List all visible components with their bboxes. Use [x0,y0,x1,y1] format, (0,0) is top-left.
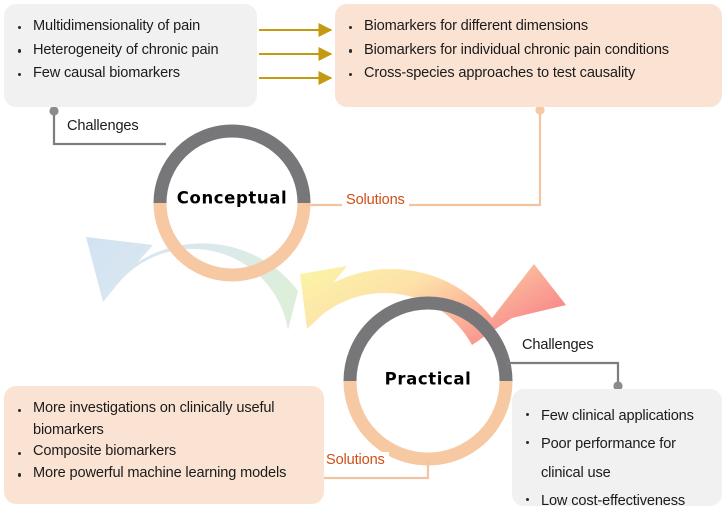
list-item: Few clinical applications [520,402,714,430]
list-challenges-conceptual: Multidimensionality of pain Heterogeneit… [12,15,247,86]
connector-solutions-conceptual [305,105,545,205]
connector-label-challenges-conceptual: Challenges [63,118,143,134]
box-solutions-practical: More investigations on clinically useful… [4,386,324,504]
list-item: Biomarkers for individual chronic pain c… [343,39,712,63]
list-item: Biomarkers for different dimensions [343,15,712,39]
connector-label-solutions-practical: Solutions [322,452,389,468]
list-challenges-practical: Few clinical applications Poor performan… [520,402,714,516]
list-item: Heterogeneity of chronic pain [12,39,247,63]
connector-label-challenges-practical: Challenges [518,337,598,353]
diagram-canvas: Conceptual Practical Challenges Solution… [0,0,726,509]
list-solutions-practical: More investigations on clinically useful… [12,398,314,484]
connector-challenges-practical [506,363,623,391]
gold-arrow-group-top [259,30,331,78]
hub-label-practical: Practical [385,370,472,389]
list-item: Multidimensionality of pain [12,15,247,39]
list-item: Composite biomarkers [12,441,314,463]
curved-arc-blue-green [86,237,298,330]
list-item: More investigations on clinically useful… [12,398,314,441]
box-challenges-conceptual: Multidimensionality of pain Heterogeneit… [4,4,257,107]
list-item: Low cost-effectiveness [520,487,714,515]
list-item: Cross-species approaches to test causali… [343,62,712,86]
box-solutions-conceptual: Biomarkers for different dimensions Biom… [335,4,722,107]
box-challenges-practical: Few clinical applications Poor performan… [512,389,722,506]
list-item: Few causal biomarkers [12,62,247,86]
connector-label-solutions-conceptual: Solutions [342,192,409,208]
list-item: Poor performance for clinical use [520,430,714,487]
list-solutions-conceptual: Biomarkers for different dimensions Biom… [343,15,712,86]
hub-label-conceptual: Conceptual [177,189,287,208]
list-item: More powerful machine learning models [12,463,314,485]
